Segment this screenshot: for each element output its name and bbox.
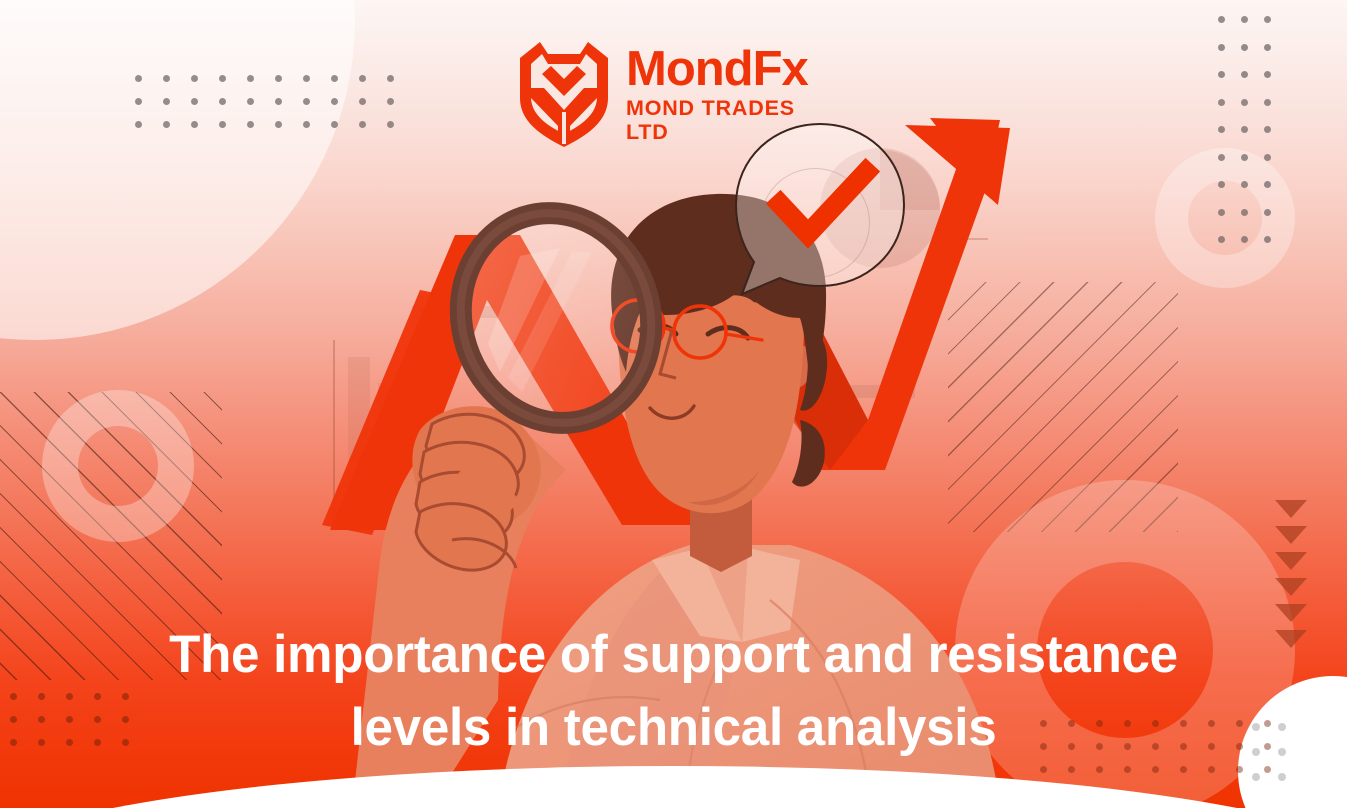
brand-tagline: MOND TRADES LTD (626, 97, 838, 144)
brand-name: MondFx (626, 46, 838, 93)
brand-logo-text: MondFx MOND TRADES LTD (626, 44, 838, 144)
page-title-line-1: The importance of support and resistance (24, 618, 1324, 691)
page-title: The importance of support and resistance… (24, 618, 1324, 764)
page-title-line-2: levels in technical analysis (24, 691, 1324, 764)
speech-bubble-check-icon (736, 124, 904, 294)
banner-canvas: MondFx MOND TRADES LTD The importance of… (0, 0, 1347, 808)
brand-logo[interactable]: MondFx MOND TRADES LTD (518, 40, 838, 148)
shield-chevron-logo-icon (518, 40, 610, 148)
